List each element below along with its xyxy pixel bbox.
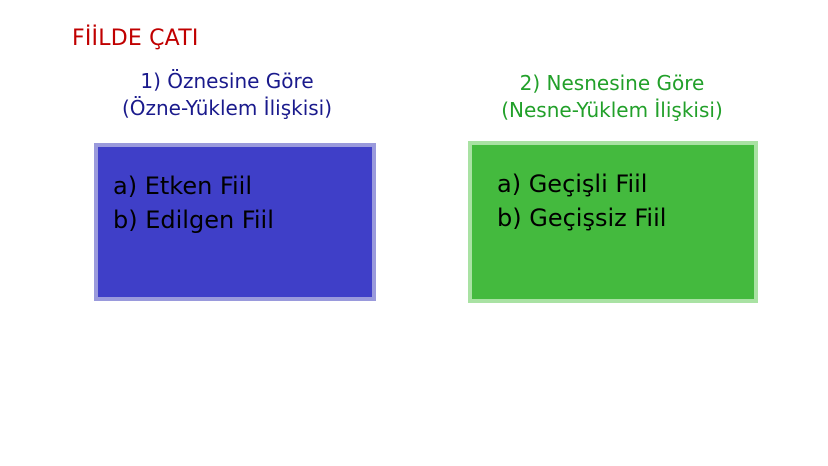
- list-item: a) Etken Fiil: [113, 169, 387, 203]
- category-box-nesnesine-gore: a) Geçişli Fiil b) Geçişsiz Fiil: [468, 141, 758, 303]
- category-list-nesnesine-gore: a) Geçişli Fiil b) Geçişsiz Fiil: [472, 145, 779, 235]
- column-heading-oznesine-gore: 1) Öznesine Göre (Özne-Yüklem İlişkisi): [62, 68, 392, 122]
- column-heading-nesnesine-gore: 2) Nesnesine Göre (Nesne-Yüklem İlişkisi…: [452, 70, 772, 124]
- category-list-oznesine-gore: a) Etken Fiil b) Edilgen Fiil: [98, 147, 387, 237]
- list-item: b) Edilgen Fiil: [113, 203, 387, 237]
- column-heading-line-2: (Özne-Yüklem İlişkisi): [62, 95, 392, 122]
- page-title: FİİLDE ÇATI: [72, 26, 199, 52]
- column-heading-line-1: 2) Nesnesine Göre: [452, 70, 772, 97]
- slide-canvas: FİİLDE ÇATI 1) Öznesine Göre (Özne-Yükle…: [0, 0, 828, 466]
- column-heading-line-1: 1) Öznesine Göre: [62, 68, 392, 95]
- list-item: a) Geçişli Fiil: [497, 167, 779, 201]
- category-box-oznesine-gore: a) Etken Fiil b) Edilgen Fiil: [94, 143, 376, 301]
- list-item: b) Geçişsiz Fiil: [497, 201, 779, 235]
- column-heading-line-2: (Nesne-Yüklem İlişkisi): [452, 97, 772, 124]
